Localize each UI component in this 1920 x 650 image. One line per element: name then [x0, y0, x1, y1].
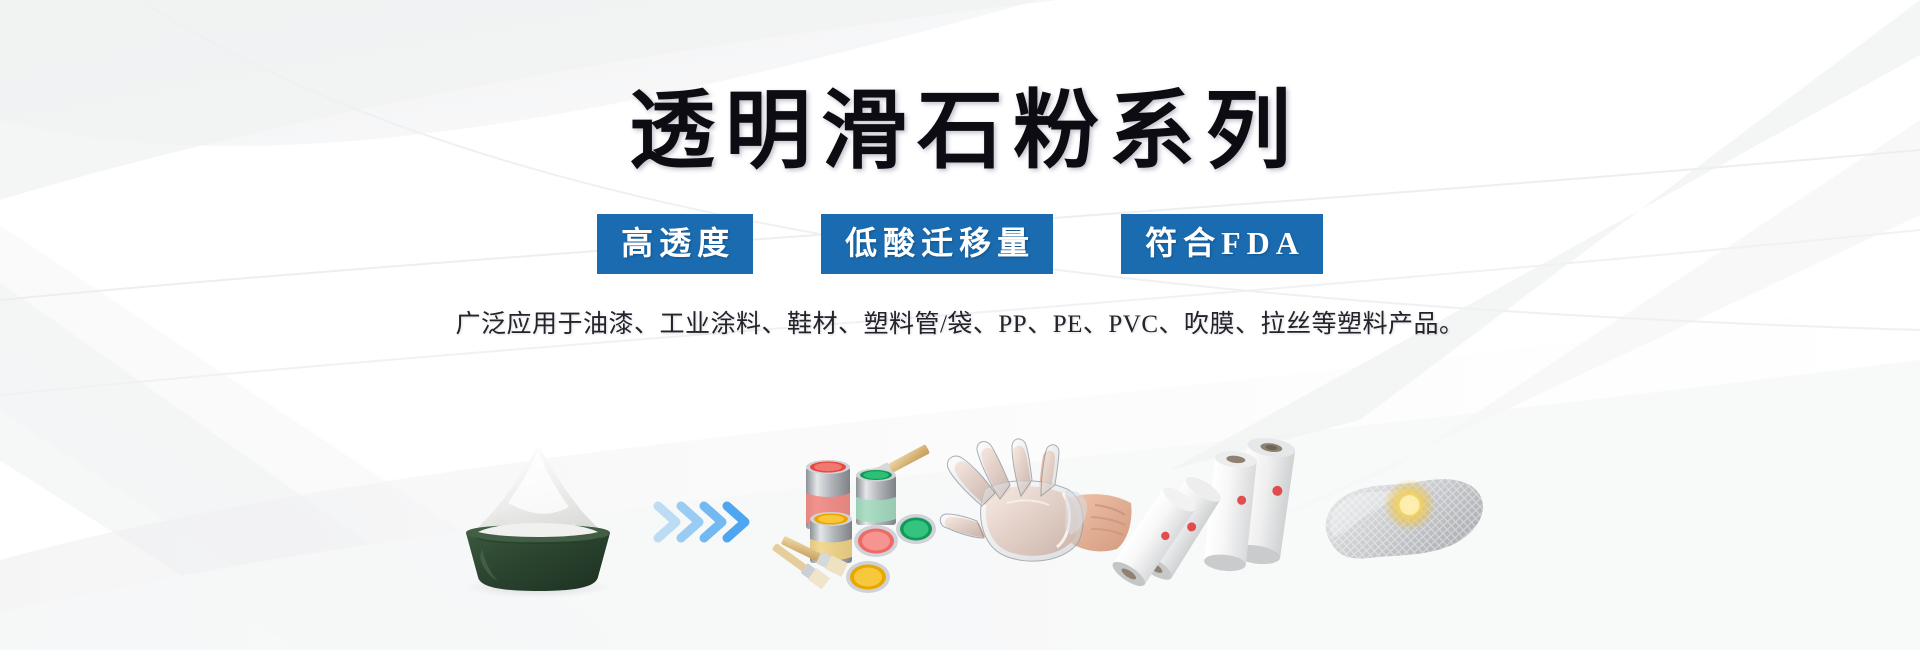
badge-fda-compliant[interactable]: 符合FDA	[1121, 214, 1323, 274]
product-banner: 透明滑石粉系列 高透度 低酸迁移量 符合FDA 广泛应用于油漆、工业涂料、鞋材、…	[0, 0, 1920, 650]
page-title: 透明滑石粉系列	[619, 88, 1301, 174]
badge-high-transparency[interactable]: 高透度	[597, 214, 753, 274]
badge-low-acid-migration[interactable]: 低酸迁移量	[821, 214, 1053, 274]
banner-content: 透明滑石粉系列 高透度 低酸迁移量 符合FDA 广泛应用于油漆、工业涂料、鞋材、…	[0, 0, 1920, 650]
feature-badge-row: 高透度 低酸迁移量 符合FDA	[597, 214, 1323, 274]
application-description: 广泛应用于油漆、工业涂料、鞋材、塑料管/袋、PP、PE、PVC、吹膜、拉丝等塑料…	[455, 312, 1464, 337]
